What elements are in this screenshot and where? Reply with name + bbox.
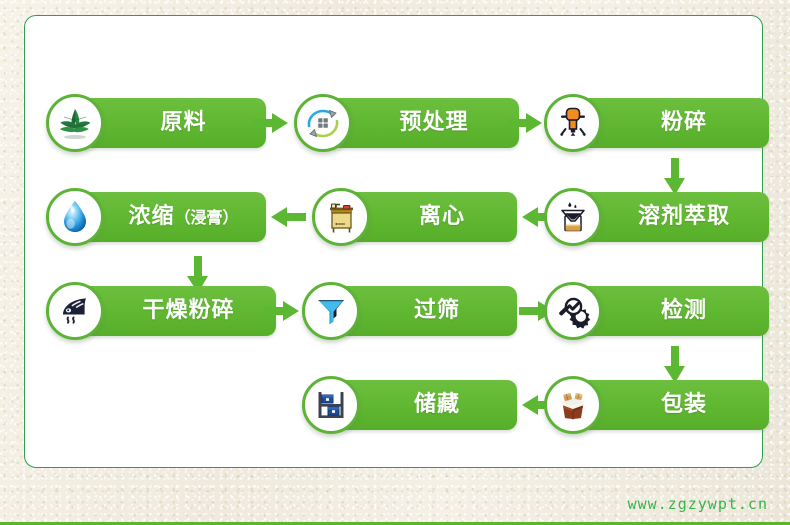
open-box-icon xyxy=(544,376,602,434)
jackhammer-icon xyxy=(544,94,602,152)
flow-node-label: 包装 xyxy=(661,394,707,416)
flow-node-concentration[interactable]: 浓缩（浸膏） xyxy=(46,188,266,246)
flow-node-raw-material[interactable]: 原料 xyxy=(46,94,266,152)
leaf-icon xyxy=(46,94,104,152)
flow-node-drying-crushing[interactable]: 干燥粉碎 xyxy=(46,282,276,340)
site-url[interactable]: www.zgzywpt.cn xyxy=(628,495,768,513)
flow-node-pill: 预处理 xyxy=(323,98,519,148)
flow-node-pill: 粉碎 xyxy=(573,98,769,148)
flow-node-storage[interactable]: 储藏 xyxy=(302,376,517,434)
flow-node-label: 离心 xyxy=(419,206,465,228)
flow-node-label: 过筛 xyxy=(414,300,460,322)
magnifier-gear-icon xyxy=(544,282,602,340)
flow-node-packaging[interactable]: 包装 xyxy=(544,376,769,434)
flow-node-label: 浓缩（浸膏） xyxy=(128,206,238,228)
flow-node-testing[interactable]: 检测 xyxy=(544,282,769,340)
water-drop-icon xyxy=(46,188,104,246)
flow-node-pill: 包装 xyxy=(573,380,769,430)
dryer-icon xyxy=(46,282,104,340)
flow-node-label: 干燥粉碎 xyxy=(142,300,234,322)
flow-node-sieving[interactable]: 过筛 xyxy=(302,282,517,340)
funnel-beaker-icon xyxy=(544,188,602,246)
flow-node-label: 预处理 xyxy=(399,112,468,134)
connector-pretreatment-to-crushing xyxy=(507,112,543,134)
flow-node-label: 检测 xyxy=(661,300,707,322)
shelf-icon xyxy=(302,376,360,434)
connector-centrifuge-to-concentration xyxy=(270,206,306,228)
centrifuge-icon xyxy=(312,188,370,246)
filter-funnel-icon xyxy=(302,282,360,340)
flow-node-pill: 检测 xyxy=(573,286,769,336)
flow-node-pill: 干燥粉碎 xyxy=(75,286,276,336)
flowchart-card: 原料 xyxy=(24,15,763,468)
flow-node-label: 储藏 xyxy=(414,394,460,416)
recycle-icon xyxy=(294,94,352,152)
connector-raw-to-pretreatment xyxy=(253,112,289,134)
flow-node-label: 粉碎 xyxy=(661,112,707,134)
flow-node-sublabel: （浸膏） xyxy=(175,208,239,227)
flow-node-pill: 溶剂萃取 xyxy=(573,192,769,242)
flow-node-pretreatment[interactable]: 预处理 xyxy=(294,94,519,152)
connector-drying-to-sieving xyxy=(264,300,300,322)
flow-node-crushing[interactable]: 粉碎 xyxy=(544,94,769,152)
flow-node-label: 溶剂萃取 xyxy=(638,206,730,228)
flow-node-label: 原料 xyxy=(160,112,206,134)
flow-node-centrifuge[interactable]: 离心 xyxy=(312,188,517,246)
flow-node-solvent-extraction[interactable]: 溶剂萃取 xyxy=(544,188,769,246)
